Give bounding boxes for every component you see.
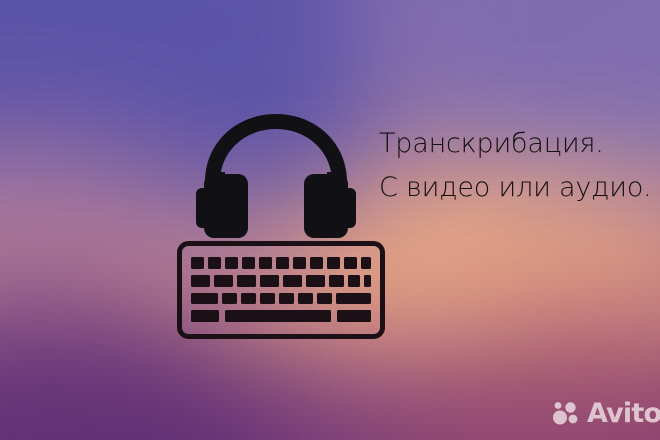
headline-line-1: Транскрибация. bbox=[379, 122, 660, 166]
headline-text: Транскрибация. С видео или аудио. bbox=[379, 122, 660, 210]
banner-canvas: Транскрибация. С видео или аудио. Avito bbox=[0, 0, 660, 440]
keyboard-icon bbox=[177, 241, 385, 339]
avito-wordmark: Avito bbox=[587, 400, 660, 427]
avito-watermark: Avito bbox=[551, 398, 660, 428]
avito-logo-mark bbox=[551, 398, 581, 428]
headphones-icon bbox=[196, 112, 356, 240]
headline-line-2: С видео или аудио. bbox=[379, 166, 660, 210]
